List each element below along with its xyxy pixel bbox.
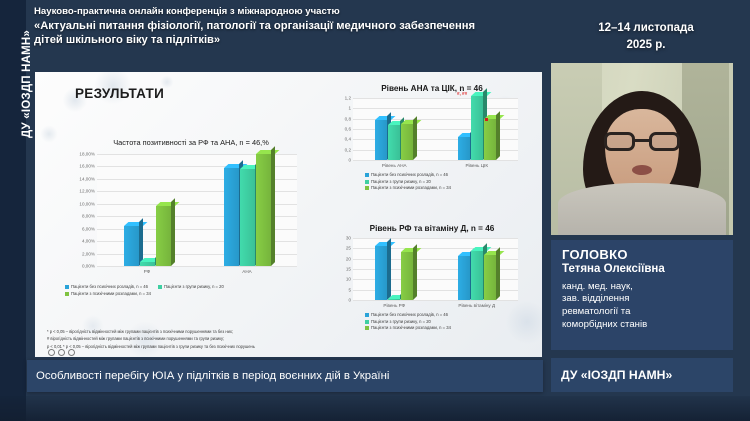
speaker-video[interactable] — [551, 63, 733, 235]
speaker-role-line-4: коморбідних станів — [562, 319, 722, 332]
y-axis-tick: 1 — [348, 106, 351, 111]
significance-marker — [485, 118, 488, 121]
y-axis-tick: 15 — [346, 267, 351, 272]
bar-group — [458, 96, 496, 160]
chart-2-title: Рівень АНА та ЦІК, n = 46 — [327, 84, 537, 93]
org-badge: ДУ «ІОЗДП НАМН» — [551, 358, 733, 392]
bar — [401, 124, 413, 160]
chart-2-legend: Пацієнти без психічних розладів, n = 46П… — [365, 172, 451, 192]
speaker-mouth — [632, 165, 652, 175]
legend-swatch — [158, 285, 162, 289]
y-axis-tick: 2,00% — [82, 251, 95, 256]
chart-1-legend: Пацієнти без психічних розладів, n = 46П… — [65, 284, 224, 297]
header-line-2: «Актуальні питання фізіології, патології… — [34, 19, 544, 34]
legend-item: Пацієнти з групи ризику, n = 20 — [158, 284, 224, 291]
talk-title-text: Особливості перебігу ЮІА у підлітків в п… — [36, 370, 389, 382]
bar — [375, 246, 387, 300]
y-axis-tick: 0,8 — [345, 116, 351, 121]
legend-swatch — [365, 173, 369, 177]
date-line-2: 2025 р. — [556, 37, 736, 54]
date-line-1: 12–14 листопада — [556, 20, 736, 37]
legend-swatch — [365, 320, 369, 324]
x-axis-label: Рівень вітаміну Д — [458, 303, 495, 308]
y-axis-tick: 10 — [346, 277, 351, 282]
legend-swatch — [365, 326, 369, 330]
conference-header: Науково-практична онлайн конференція з м… — [34, 6, 544, 48]
bar-group — [124, 206, 171, 266]
footnote-2: # вірогідність відмінностей між групами … — [47, 335, 347, 343]
chart-1-plot: 0,00%2,00%4,00%6,00%8,00%10,00%12,00%14,… — [97, 154, 297, 266]
legend-item: Пацієнти з психічними розладами, n = 34 — [365, 325, 451, 332]
slide-controls[interactable] — [48, 349, 75, 356]
bar-group — [375, 120, 413, 160]
legend-label: Пацієнти з психічними розладами, n = 34 — [371, 185, 451, 192]
x-axis-label: РФ — [144, 269, 151, 274]
x-axis-label: Рівень АНА — [382, 163, 407, 168]
bar — [224, 168, 239, 266]
bar — [458, 256, 470, 300]
bar — [140, 262, 155, 266]
speaker-info-card: ГОЛОВКО Тетяна Олексіївна канд. мед. нау… — [551, 240, 733, 350]
left-branding-strip: ДУ «ІОЗДП НАМН» — [0, 0, 26, 421]
y-axis-tick: 30 — [346, 236, 351, 241]
y-axis-tick: 0 — [348, 158, 351, 163]
legend-swatch — [65, 285, 69, 289]
legend-swatch — [365, 180, 369, 184]
bar — [471, 96, 483, 160]
slide-footnotes: * p < 0,05 – вірогідність відмінностей м… — [47, 328, 347, 351]
bar — [471, 251, 483, 300]
bar — [240, 169, 255, 266]
significance-annotation: #, ## — [457, 91, 467, 96]
header-line-1: Науково-практична онлайн конференція з м… — [34, 6, 544, 19]
bar — [458, 137, 470, 160]
y-axis-tick: 16,00% — [79, 164, 95, 169]
bar — [375, 120, 387, 160]
speaker-role-line-2: зав. відділення — [562, 293, 722, 306]
y-axis-tick: 0 — [348, 298, 351, 303]
slide-title: РЕЗУЛЬТАТИ — [75, 86, 164, 101]
x-axis-label: Рівень РФ — [383, 303, 405, 308]
bar-group — [458, 251, 496, 300]
legend-swatch — [365, 313, 369, 317]
speaker-torso — [558, 183, 726, 235]
y-axis-tick: 4,00% — [82, 239, 95, 244]
x-axis-label: АНА — [242, 269, 251, 274]
bar — [156, 206, 171, 266]
presentation-stage: ДУ «ІОЗДП НАМН» Науково-практична онлайн… — [0, 0, 750, 421]
y-axis-tick: 0,6 — [345, 127, 351, 132]
y-axis-tick: 1,2 — [345, 96, 351, 101]
bar — [388, 125, 400, 160]
y-axis-tick: 10,00% — [79, 201, 95, 206]
options-icon[interactable] — [68, 349, 75, 356]
bar — [484, 255, 496, 300]
header-line-3: дітей шкільного віку та підлітків» — [34, 33, 544, 48]
legend-label: Пацієнти з психічними розладами, n = 34 — [71, 291, 151, 298]
y-axis-tick: 20 — [346, 256, 351, 261]
org-badge-text: ДУ «ІОЗДП НАМН» — [561, 368, 672, 382]
y-axis-tick: 8,00% — [82, 214, 95, 219]
y-axis-tick: 0,00% — [82, 264, 95, 269]
legend-item: Пацієнти з психічними розладами, n = 34 — [365, 185, 451, 192]
bar — [388, 299, 400, 300]
legend-label: Пацієнти з психічними розладами, n = 34 — [371, 325, 451, 332]
chart-3-plot: 051015202530Рівень РФРівень вітаміну Д — [353, 238, 518, 300]
bar-group — [224, 154, 271, 266]
y-axis-tick: 6,00% — [82, 226, 95, 231]
legend-swatch — [365, 186, 369, 190]
y-axis-tick: 14,00% — [79, 176, 95, 181]
bar — [401, 252, 413, 300]
glasses-icon — [604, 132, 680, 151]
legend-swatch — [65, 292, 69, 296]
vertical-org-label: ДУ «ІОЗДП НАМН» — [21, 0, 33, 179]
y-axis-tick: 5 — [348, 287, 351, 292]
speaker-role-line-3: ревматології та — [562, 306, 722, 319]
speaker-surname: ГОЛОВКО — [562, 248, 722, 262]
footnote-3: p < 0,01 * p < 0,05 – вірогідність відмі… — [47, 343, 347, 351]
gridline — [353, 238, 518, 239]
legend-item: Пацієнти з психічними розладами, n = 34 — [65, 291, 224, 298]
y-axis-tick: 0,2 — [345, 147, 351, 152]
conference-date: 12–14 листопада 2025 р. — [556, 20, 736, 53]
y-axis-tick: 12,00% — [79, 189, 95, 194]
footnote-1: * p < 0,05 – вірогідність відмінностей м… — [47, 328, 347, 336]
y-axis-tick: 18,00% — [79, 152, 95, 157]
y-axis-tick: 25 — [346, 246, 351, 251]
y-axis-tick: 0,4 — [345, 137, 351, 142]
bottom-gradient-band — [0, 396, 750, 421]
bar — [256, 154, 271, 266]
legend-label: Пацієнти з групи ризику, n = 20 — [164, 284, 224, 291]
globe-icon[interactable] — [58, 349, 65, 356]
speaker-role-line-1: канд. мед. наук, — [562, 281, 722, 294]
zoom-icon[interactable] — [48, 349, 55, 356]
bar — [124, 226, 139, 266]
x-axis-label: Рівень ЦІК — [465, 163, 488, 168]
chart-3-legend: Пацієнти без психічних розладів, n = 46П… — [365, 312, 451, 332]
talk-title-bar: Особливості перебігу ЮІА у підлітків в п… — [27, 360, 543, 392]
gridline — [353, 160, 518, 161]
slide-canvas[interactable]: РЕЗУЛЬТАТИ Частота позитивності за РФ та… — [35, 72, 542, 357]
gridline — [353, 300, 518, 301]
chart-3-title: Рівень РФ та вітаміну Д, n = 46 — [327, 224, 537, 233]
chart-1-title: Частота позитивності за РФ та АНА, n = 4… — [57, 138, 325, 147]
speaker-given-name: Тетяна Олексіївна — [562, 262, 722, 276]
chart-2-plot: 00,20,40,60,811,2Рівень АНАРівень ЦІК#, … — [353, 98, 518, 160]
bar-group — [375, 246, 413, 300]
bar — [484, 119, 496, 160]
gridline — [97, 266, 297, 267]
